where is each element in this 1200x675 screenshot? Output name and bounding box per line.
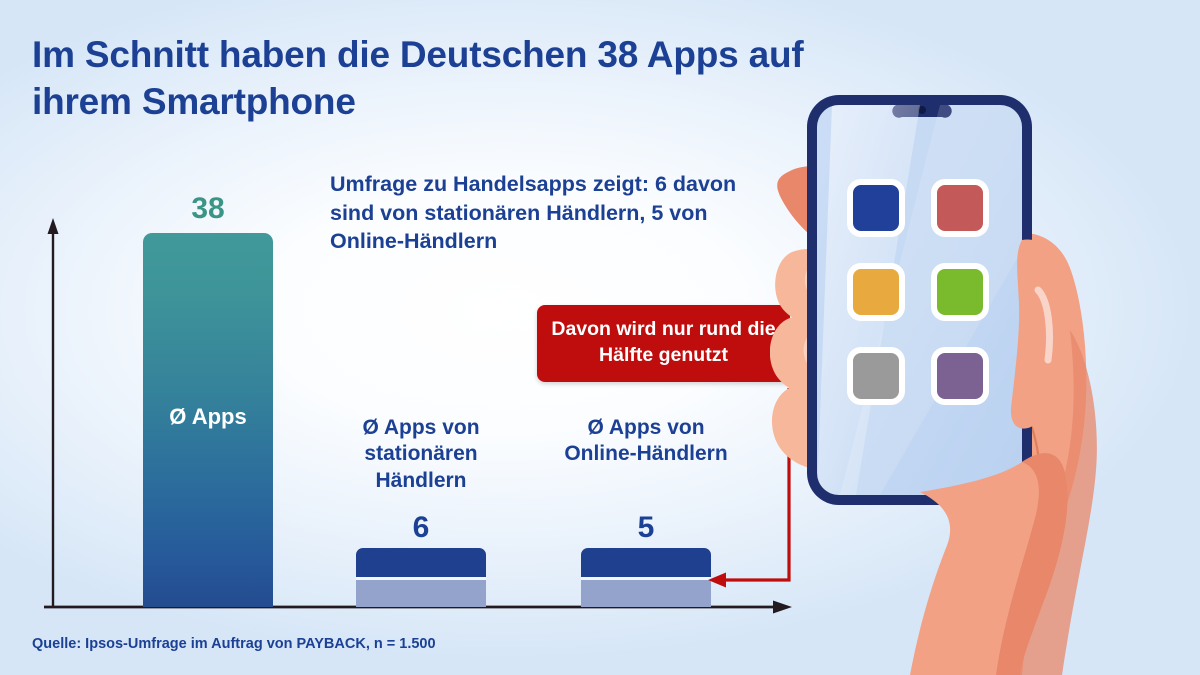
bar-value-online: 5 bbox=[581, 511, 711, 545]
app-icon-tile-2[interactable] bbox=[934, 182, 986, 234]
infographic-canvas: Im Schnitt haben die Deutschen 38 Apps a… bbox=[0, 0, 1200, 675]
bar-label-online: Ø Apps von Online-Händlern bbox=[556, 415, 736, 468]
app-icon-tile-6[interactable] bbox=[934, 350, 986, 402]
bar-segment-used-online bbox=[581, 548, 711, 580]
hand-holding-smartphone-illustration bbox=[770, 0, 1200, 675]
app-icon-tile-4[interactable] bbox=[934, 266, 986, 318]
subtitle-text: Umfrage zu Handelsapps zeigt: 6 davon si… bbox=[330, 170, 760, 256]
bar-main-average-apps: Ø Apps bbox=[143, 233, 273, 607]
bar-value-main: 38 bbox=[143, 192, 273, 226]
bar-value-stationaer: 6 bbox=[356, 511, 486, 545]
bar-segment-unused-stationaer bbox=[356, 580, 486, 607]
bar-label-stationaer: Ø Apps von stationären Händlern bbox=[331, 415, 511, 494]
page-title: Im Schnitt haben die Deutschen 38 Apps a… bbox=[32, 32, 892, 126]
bar-segment-used-stationaer bbox=[356, 548, 486, 580]
app-icon-tile-1[interactable] bbox=[850, 182, 902, 234]
source-note: Quelle: Ipsos-Umfrage im Auftrag von PAY… bbox=[32, 636, 436, 652]
bar-segment-unused-online bbox=[581, 580, 711, 607]
bar-online bbox=[581, 548, 711, 607]
callout-box: Davon wird nur rund die Hälfte genutzt bbox=[537, 305, 790, 382]
app-icon-tile-3[interactable] bbox=[850, 266, 902, 318]
bar-main-inline-label: Ø Apps bbox=[143, 404, 273, 430]
app-icon-tile-5[interactable] bbox=[850, 350, 902, 402]
bar-stationaer bbox=[356, 548, 486, 607]
y-axis-arrowhead bbox=[48, 218, 59, 234]
